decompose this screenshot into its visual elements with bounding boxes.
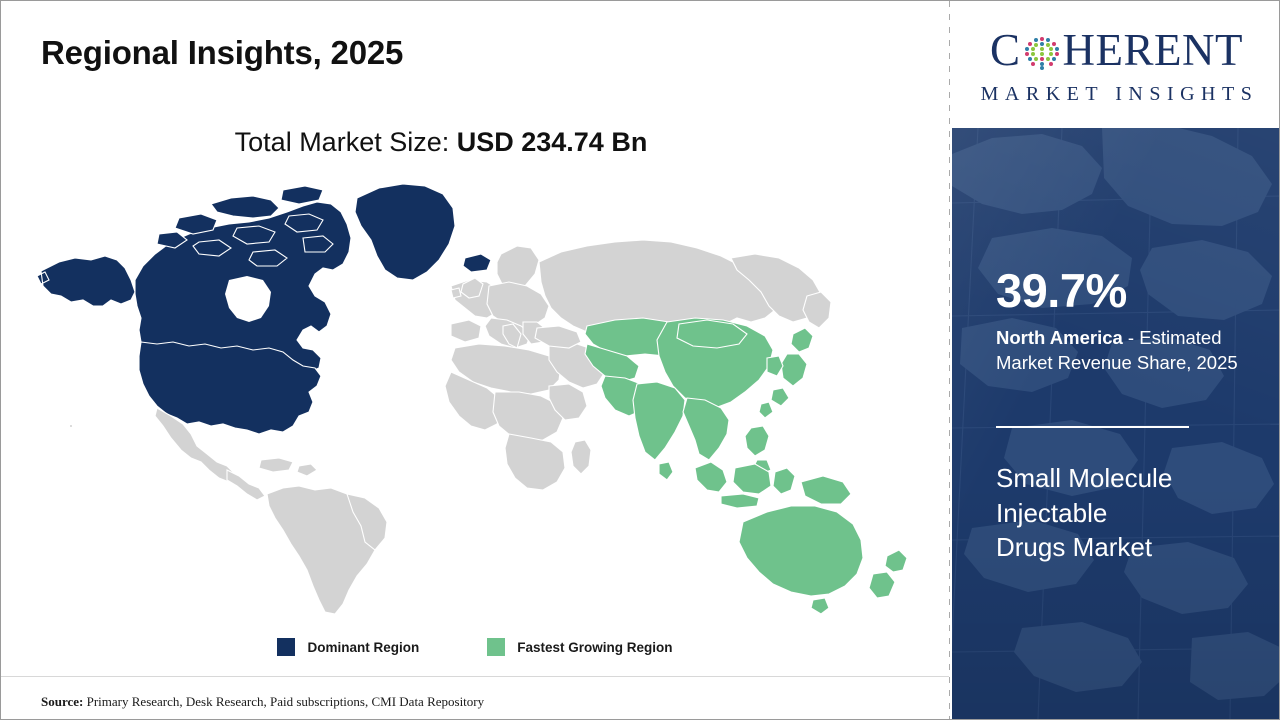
region-madagascar: [571, 440, 591, 474]
page-title: Regional Insights, 2025: [41, 34, 403, 72]
region-greenland: [355, 184, 455, 280]
source-label: Source:: [41, 694, 83, 709]
region-caribbean: [259, 458, 317, 476]
region-southeast-asia: [683, 398, 729, 460]
legend-label-fastest-growing: Fastest Growing Region: [517, 640, 672, 655]
region-iceland: [463, 254, 491, 272]
logo-subtitle: MARKET INSIGHTS: [981, 83, 1259, 106]
infographic-frame: Regional Insights, 2025 Total Market Siz…: [0, 0, 1280, 720]
region-kamchatka: [803, 292, 831, 328]
region-indonesia-java: [721, 494, 759, 508]
region-india: [633, 382, 685, 460]
region-iberia: [451, 320, 481, 342]
market-size-label: Total Market Size:: [235, 127, 457, 157]
stat-description: North America - Estimated Market Revenue…: [996, 325, 1264, 375]
logo-word-right: HERENT: [1063, 28, 1243, 73]
region-korea: [767, 356, 783, 376]
stat-panel: 39.7% North America - Estimated Market R…: [952, 128, 1280, 719]
market-name: Small Molecule Injectable Drugs Market: [996, 461, 1246, 565]
market-size-value: USD 234.74 Bn: [457, 127, 648, 157]
legend-item-dominant: Dominant Region: [277, 638, 419, 656]
region-turkey: [535, 326, 581, 348]
region-sri-lanka: [659, 462, 673, 480]
world-map-svg: [31, 176, 921, 616]
dotted-globe-icon: [1022, 33, 1062, 73]
source-divider: [1, 676, 949, 677]
region-alaska: [37, 256, 135, 306]
stat-panel-content: 39.7% North America - Estimated Market R…: [996, 128, 1246, 719]
world-map: [31, 176, 921, 616]
region-tasmania: [811, 598, 829, 614]
legend-item-fastest-growing: Fastest Growing Region: [487, 638, 672, 656]
logo-wordmark: C: [990, 23, 1243, 77]
region-papua-new-guinea: [801, 476, 851, 504]
logo-word-left: C: [990, 28, 1021, 73]
left-panel: Regional Insights, 2025 Total Market Siz…: [1, 1, 949, 719]
region-australia: [739, 506, 863, 596]
region-new-zealand: [869, 550, 907, 598]
vertical-dashed-divider: [949, 1, 950, 720]
region-indonesia-sumatra: [695, 462, 727, 492]
market-name-line-2: Injectable: [996, 496, 1246, 531]
navy-swatch-icon: [277, 638, 295, 656]
stat-percentage: 39.7%: [996, 267, 1127, 314]
stat-region-name: North America: [996, 327, 1123, 348]
region-indonesia-sulawesi: [773, 468, 795, 494]
map-legend: Dominant Region Fastest Growing Region: [1, 638, 949, 656]
legend-label-dominant: Dominant Region: [307, 640, 419, 655]
source-text: Primary Research, Desk Research, Paid su…: [83, 694, 484, 709]
green-swatch-icon: [487, 638, 505, 656]
stat-divider: [996, 426, 1189, 428]
company-logo: C: [952, 1, 1280, 128]
market-name-line-3: Drugs Market: [996, 530, 1246, 565]
source-note: Source: Primary Research, Desk Research,…: [41, 694, 484, 710]
total-market-size: Total Market Size: USD 234.74 Bn: [1, 127, 881, 158]
region-africa-south: [505, 434, 565, 490]
region-central-america: [227, 470, 265, 500]
market-name-line-1: Small Molecule: [996, 461, 1246, 496]
region-taiwan: [759, 402, 773, 418]
map-minor-island: [69, 424, 72, 427]
